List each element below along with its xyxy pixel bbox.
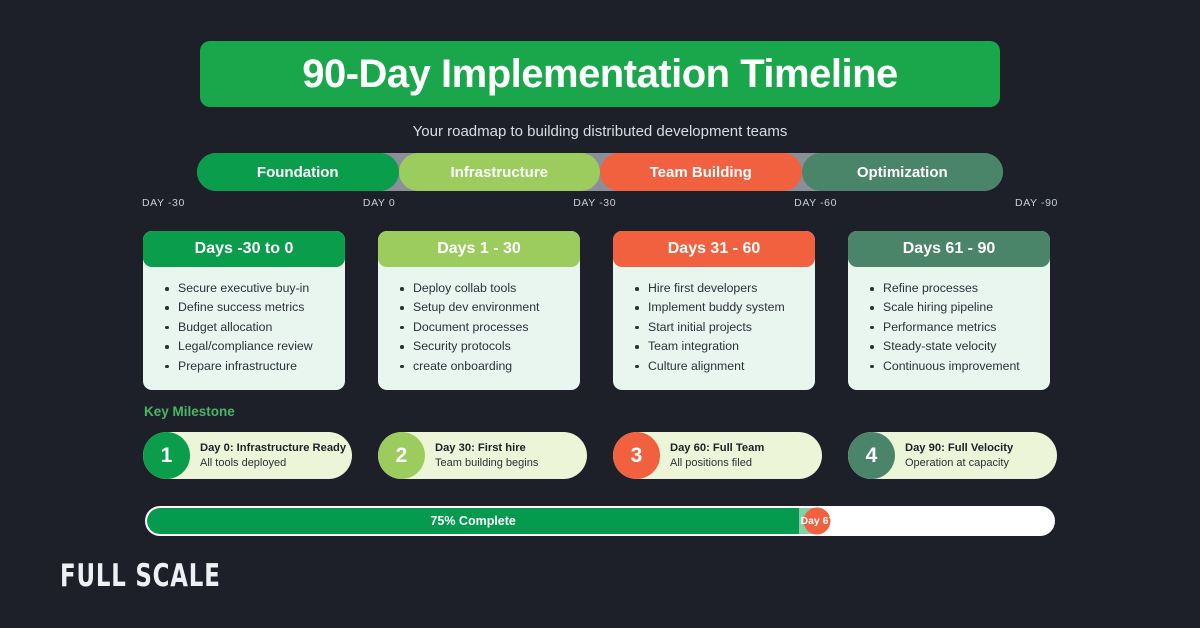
phase-card-3: Days 31 - 60 Hire first developers Imple… bbox=[613, 231, 815, 390]
milestone-item-3[interactable]: 3 Day 60: Full Team All positions filed bbox=[613, 432, 822, 479]
milestone-text: Day 60: Full Team All positions filed bbox=[660, 441, 764, 471]
phase-pill-infrastructure[interactable]: Infrastructure bbox=[399, 153, 601, 191]
list-item: Define success metrics bbox=[165, 298, 335, 317]
milestones-row: 1 Day 0: Infrastructure Ready All tools … bbox=[143, 432, 1057, 479]
phase-label: Foundation bbox=[257, 164, 339, 181]
milestone-badge: 1 bbox=[143, 432, 190, 479]
phase-card-2: Days 1 - 30 Deploy collab tools Setup de… bbox=[378, 231, 580, 390]
milestone-title: Day 30: First hire bbox=[435, 441, 538, 456]
list-item: Prepare infrastructure bbox=[165, 357, 335, 376]
milestone-badge: 2 bbox=[378, 432, 425, 479]
page-title: 90-Day Implementation Timeline bbox=[302, 52, 898, 97]
day-tick-4: DAY -90 bbox=[1015, 197, 1058, 209]
phase-card-body: Secure executive buy-in Define success m… bbox=[143, 267, 345, 390]
list-item: Security protocols bbox=[400, 337, 570, 356]
milestone-text: Day 30: First hire Team building begins bbox=[425, 441, 538, 471]
phase-card-header: Days -30 to 0 bbox=[143, 231, 345, 267]
list-item: Deploy collab tools bbox=[400, 279, 570, 298]
milestone-subtitle: Operation at capacity bbox=[905, 456, 1013, 471]
milestone-title: Day 0: Infrastructure Ready bbox=[200, 441, 346, 456]
title-banner: 90-Day Implementation Timeline bbox=[200, 41, 1000, 107]
phase-label: Infrastructure bbox=[450, 164, 548, 181]
phase-pill-team-building[interactable]: Team Building bbox=[600, 153, 802, 191]
day-tick-2: DAY -30 bbox=[573, 197, 616, 209]
infographic-canvas: 90-Day Implementation Timeline Your road… bbox=[0, 0, 1200, 628]
milestone-subtitle: All tools deployed bbox=[200, 456, 346, 471]
progress-label: 75% Complete bbox=[147, 508, 799, 534]
phase-card-4: Days 61 - 90 Refine processes Scale hiri… bbox=[848, 231, 1050, 390]
milestone-subtitle: Team building begins bbox=[435, 456, 538, 471]
milestone-title: Day 90: Full Velocity bbox=[905, 441, 1013, 456]
list-item: Start initial projects bbox=[635, 318, 805, 337]
milestone-text: Day 90: Full Velocity Operation at capac… bbox=[895, 441, 1013, 471]
key-milestone-heading: Key Milestone bbox=[144, 404, 235, 419]
phase-card-header: Days 1 - 30 bbox=[378, 231, 580, 267]
brand-logo: FULL SCALE bbox=[60, 558, 221, 594]
day-marker-label: Day 67 bbox=[801, 515, 835, 527]
list-item: create onboarding bbox=[400, 357, 570, 376]
list-item: Team integration bbox=[635, 337, 805, 356]
list-item: Document processes bbox=[400, 318, 570, 337]
list-item: Refine processes bbox=[870, 279, 1040, 298]
milestone-title: Day 60: Full Team bbox=[670, 441, 764, 456]
milestone-item-1[interactable]: 1 Day 0: Infrastructure Ready All tools … bbox=[143, 432, 352, 479]
phase-card-body: Deploy collab tools Setup dev environmen… bbox=[378, 267, 580, 390]
phase-card-body: Hire first developers Implement buddy sy… bbox=[613, 267, 815, 390]
list-item: Continuous improvement bbox=[870, 357, 1040, 376]
list-item: Scale hiring pipeline bbox=[870, 298, 1040, 317]
day-axis: DAY -30 DAY 0 DAY -30 DAY -60 DAY -90 bbox=[142, 197, 1058, 209]
milestone-badge: 3 bbox=[613, 432, 660, 479]
milestone-item-4[interactable]: 4 Day 90: Full Velocity Operation at cap… bbox=[848, 432, 1057, 479]
list-item: Setup dev environment bbox=[400, 298, 570, 317]
day-tick-0: DAY -30 bbox=[142, 197, 185, 209]
phase-track: Foundation Infrastructure Team Building … bbox=[197, 153, 1003, 191]
list-item: Secure executive buy-in bbox=[165, 279, 335, 298]
milestone-subtitle: All positions filed bbox=[670, 456, 764, 471]
day-tick-1: DAY 0 bbox=[363, 197, 395, 209]
list-item: Implement buddy system bbox=[635, 298, 805, 317]
milestone-item-2[interactable]: 2 Day 30: First hire Team building begin… bbox=[378, 432, 587, 479]
page-subtitle: Your roadmap to building distributed dev… bbox=[0, 123, 1200, 140]
milestone-badge: 4 bbox=[848, 432, 895, 479]
progress-bar[interactable]: 75% Complete Day 67 bbox=[145, 506, 1055, 536]
list-item: Culture alignment bbox=[635, 357, 805, 376]
day-tick-3: DAY -60 bbox=[794, 197, 837, 209]
list-item: Legal/compliance review bbox=[165, 337, 335, 356]
phase-pill-foundation[interactable]: Foundation bbox=[197, 153, 399, 191]
milestone-text: Day 0: Infrastructure Ready All tools de… bbox=[190, 441, 346, 471]
phase-label: Optimization bbox=[857, 164, 948, 181]
phase-card-header: Days 31 - 60 bbox=[613, 231, 815, 267]
phase-cards-row: Days -30 to 0 Secure executive buy-in De… bbox=[143, 231, 1057, 390]
phase-label: Team Building bbox=[650, 164, 752, 181]
list-item: Steady-state velocity bbox=[870, 337, 1040, 356]
phase-card-header: Days 61 - 90 bbox=[848, 231, 1050, 267]
phase-card-body: Refine processes Scale hiring pipeline P… bbox=[848, 267, 1050, 390]
list-item: Budget allocation bbox=[165, 318, 335, 337]
list-item: Hire first developers bbox=[635, 279, 805, 298]
phase-card-1: Days -30 to 0 Secure executive buy-in De… bbox=[143, 231, 345, 390]
phase-pill-optimization[interactable]: Optimization bbox=[802, 153, 1004, 191]
list-item: Performance metrics bbox=[870, 318, 1040, 337]
